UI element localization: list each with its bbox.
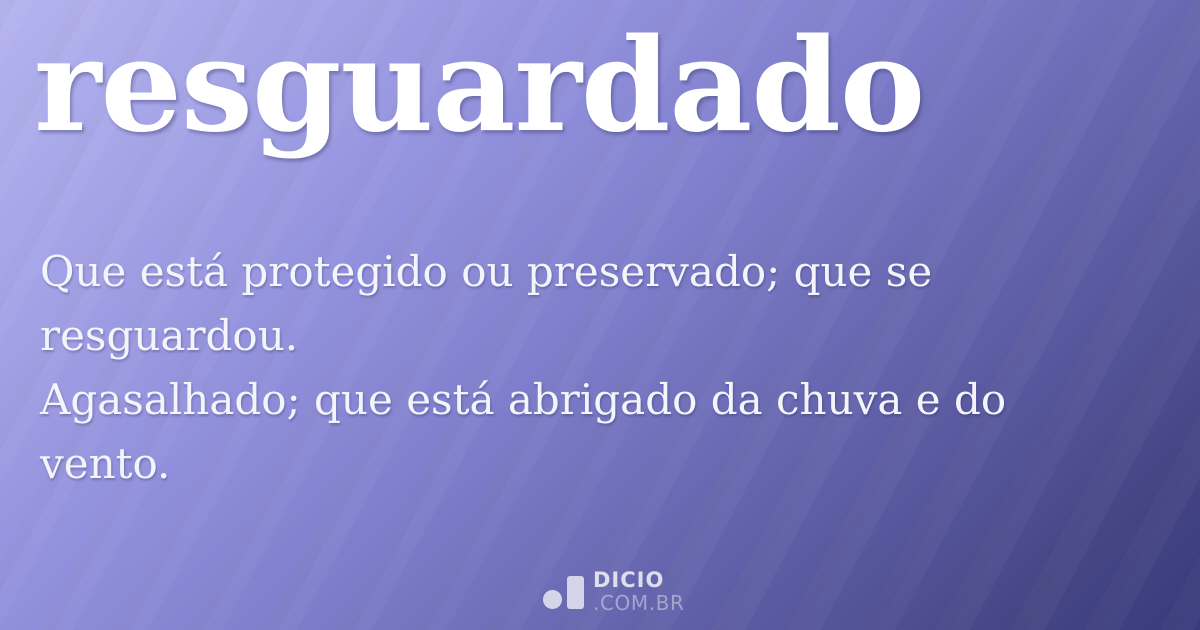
definition-line: resguardou.: [40, 304, 1150, 368]
word-definition-card: resguardado Que está protegido ou preser…: [0, 0, 1200, 630]
circle-icon: [543, 590, 562, 609]
dicio-logo-text: DICIO .COM.BR: [593, 570, 685, 613]
definition-line: Que está protegido ou preservado; que se: [40, 240, 1150, 304]
definition-line: vento.: [40, 432, 1150, 496]
dicio-logo-mark-icon: [543, 575, 584, 609]
dicio-logo-name: DICIO: [593, 570, 685, 591]
page-title: resguardado: [34, 22, 924, 150]
definition-block: Que está protegido ou preservado; que se…: [40, 240, 1150, 496]
rounded-bar-icon: [567, 576, 584, 609]
dicio-logo: DICIO .COM.BR: [543, 570, 685, 613]
dicio-logo-tld: .COM.BR: [593, 593, 685, 613]
card-content: resguardado Que está protegido ou preser…: [0, 0, 1200, 630]
definition-line: Agasalhado; que está abrigado da chuva e…: [40, 368, 1150, 432]
